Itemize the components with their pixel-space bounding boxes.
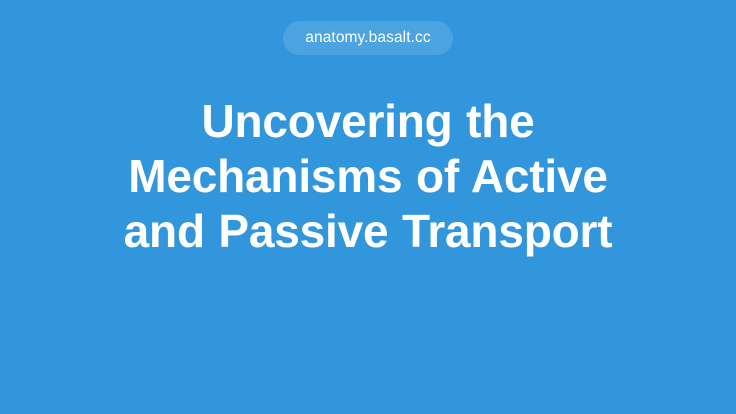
site-domain-label: anatomy.basalt.cc	[305, 30, 430, 46]
headline-container: Uncovering the Mechanisms of Active and …	[0, 94, 736, 259]
site-domain-badge: anatomy.basalt.cc	[283, 21, 452, 55]
page-title: Uncovering the Mechanisms of Active and …	[88, 94, 648, 259]
social-share-card: anatomy.basalt.cc Uncovering the Mechani…	[0, 0, 736, 414]
